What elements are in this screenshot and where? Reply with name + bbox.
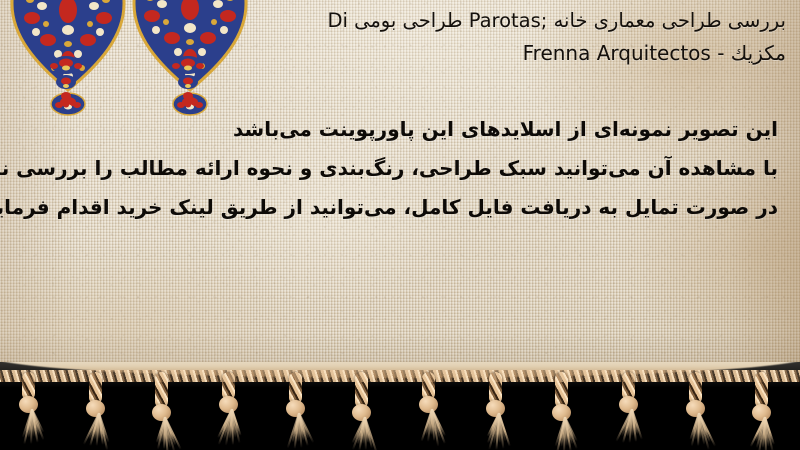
tassel-strands bbox=[549, 417, 579, 450]
tassel-strands bbox=[83, 413, 113, 450]
tassel-strands bbox=[283, 413, 313, 450]
slide-body-text: این تصویر نمونه‌ای از اسلایدهای این پاور… bbox=[18, 110, 778, 227]
tassel-strands bbox=[216, 409, 246, 447]
tassel-strands bbox=[149, 417, 179, 450]
tassel-cord bbox=[355, 372, 368, 408]
slide-title-line-1: بررسی طراحی معماری خانه ;Parotas طراحی ب… bbox=[126, 4, 786, 37]
slide-title: بررسی طراحی معماری خانه ;Parotas طراحی ب… bbox=[126, 4, 786, 70]
body-line-2: با مشاهده آن می‌توانید سبک طراحی، رنگ‌بن… bbox=[18, 149, 778, 188]
tassel-cord bbox=[555, 372, 568, 408]
tassel-strands bbox=[483, 413, 513, 450]
fringe-cord-band bbox=[0, 370, 800, 382]
carpet-fringe bbox=[0, 362, 800, 450]
tassel-cord bbox=[155, 372, 168, 408]
tassel-strands bbox=[16, 409, 46, 447]
tassel-strands bbox=[683, 413, 713, 450]
pendant-drop-icon bbox=[46, 56, 86, 112]
body-line-1: این تصویر نمونه‌ای از اسلایدهای این پاور… bbox=[18, 110, 778, 149]
tassel-strands bbox=[616, 409, 646, 447]
tassel-strands bbox=[349, 417, 379, 450]
tassel-strands bbox=[749, 417, 779, 450]
tassel-strands bbox=[416, 409, 446, 447]
slide-title-line-2: مكزيك - Frenna Arquitectos bbox=[126, 37, 786, 70]
slide-canvas: بررسی طراحی معماری خانه ;Parotas طراحی ب… bbox=[0, 0, 800, 450]
body-line-3: در صورت تمایل به دریافت فایل کامل، می‌تو… bbox=[18, 188, 778, 227]
carpet-pendant-small bbox=[46, 56, 86, 116]
tassel-cord bbox=[755, 372, 768, 408]
